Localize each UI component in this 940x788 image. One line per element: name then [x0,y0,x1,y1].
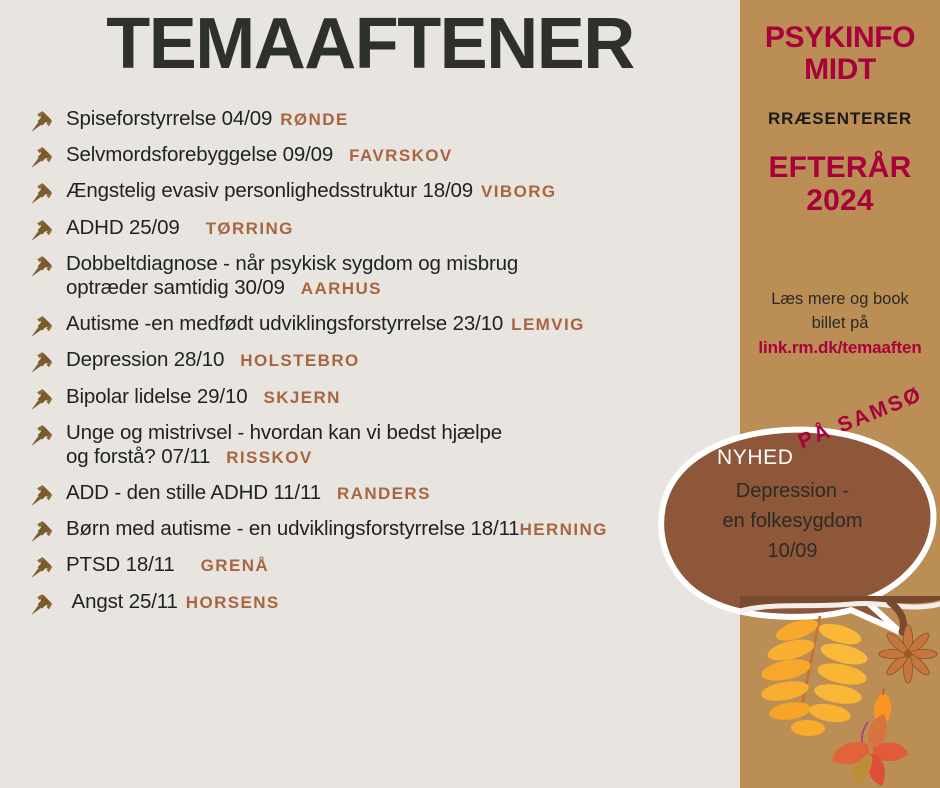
event-title: Depression 28/10 [66,348,224,371]
booking-block: Læs mere og book billet på link.rm.dk/te… [740,288,940,358]
event-city: AARHUS [301,279,382,298]
event-list-item[interactable]: Autisme -en medfødt udviklingsforstyrrel… [26,312,740,336]
event-list-item[interactable]: ADHD 25/09TØRRING [26,216,740,240]
presents-label: RRÆSENTERER [740,109,940,129]
booking-url-link[interactable]: link.rm.dk/temaaften [750,338,930,358]
event-list-item[interactable]: Ængstelig evasiv personlighedsstruktur 1… [26,179,740,203]
event-city: VIBORG [481,182,556,201]
brand-name-line2: MIDT [740,54,940,86]
pushpin-icon [28,350,54,376]
pushpin-icon [28,218,54,244]
event-title: Bipolar lidelse 29/10 [66,385,247,408]
event-city: RISSKOV [226,448,312,467]
event-city: HORSENS [186,593,280,612]
event-title: Spiseforstyrrelse 04/09 [66,107,272,130]
pushpin-icon [28,423,54,449]
event-city: SKJERN [263,388,340,407]
event-title: ADHD 25/09 [66,216,180,239]
event-list-item[interactable]: Børn med autisme - en udviklingsforstyrr… [26,517,740,541]
event-list-item[interactable]: Spiseforstyrrelse 04/09RØNDE [26,107,740,131]
event-city: RØNDE [280,110,348,129]
event-title: Ængstelig evasiv personlighedsstruktur 1… [66,179,473,202]
booking-line-2: billet på [750,312,930,336]
event-list: Spiseforstyrrelse 04/09RØNDESelvmordsfor… [26,107,740,626]
event-list-item[interactable]: Dobbeltdiagnose - når psykisk sygdom og … [26,252,740,300]
event-list-item[interactable]: ADD - den stille ADHD 11/11RANDERS [26,481,740,505]
booking-line-1: Læs mere og book [750,288,930,312]
pushpin-icon [28,387,54,413]
event-city: GRENÅ [201,556,269,575]
event-list-item[interactable]: Selvmordsforebyggelse 09/09FAVRSKOV [26,143,740,167]
event-title: Angst 25/11 [66,590,178,613]
event-list-item[interactable]: Unge og mistrivsel - hvordan kan vi beds… [26,421,740,469]
pushpin-icon [28,181,54,207]
poster-canvas: TEMAAFTENER Spiseforstyrrelse 04/09RØNDE… [0,0,940,788]
event-title: Selvmordsforebyggelse 09/09 [66,143,333,166]
event-title: ADD - den stille ADHD 11/11 [66,481,321,504]
event-list-item[interactable]: Depression 28/10HOLSTEBRO [26,348,740,372]
event-city: TØRRING [206,219,294,238]
season-year: 2024 [740,184,940,218]
event-title: Børn med autisme - en udviklingsforstyrr… [66,517,520,540]
event-city: RANDERS [337,484,431,503]
main-content-column: TEMAAFTENER Spiseforstyrrelse 04/09RØNDE… [0,0,740,788]
pushpin-icon [28,592,54,618]
event-title: Dobbeltdiagnose - når psykisk sygdom og … [66,252,518,299]
event-city: HERNING [520,520,608,539]
page-title: TEMAAFTENER [0,8,740,80]
event-list-item[interactable]: PTSD 18/11GRENÅ [26,553,740,577]
event-list-item[interactable]: Bipolar lidelse 29/10SKJERN [26,385,740,409]
pushpin-icon [28,314,54,340]
event-list-item[interactable]: Angst 25/11HORSENS [26,590,740,614]
event-city: FAVRSKOV [349,146,452,165]
pushpin-icon [28,519,54,545]
event-city: LEMVIG [511,315,585,334]
event-title: Autisme -en medfødt udviklingsforstyrrel… [66,312,503,335]
event-title: PTSD 18/11 [66,553,175,576]
pushpin-icon [28,145,54,171]
pushpin-icon [28,483,54,509]
pushpin-icon [28,109,54,135]
brand-name-line1: PSYKINFO [740,22,940,54]
season-label: EFTERÅR [740,151,940,185]
event-city: HOLSTEBRO [240,351,359,370]
pushpin-icon [28,254,54,280]
pushpin-icon [28,555,54,581]
